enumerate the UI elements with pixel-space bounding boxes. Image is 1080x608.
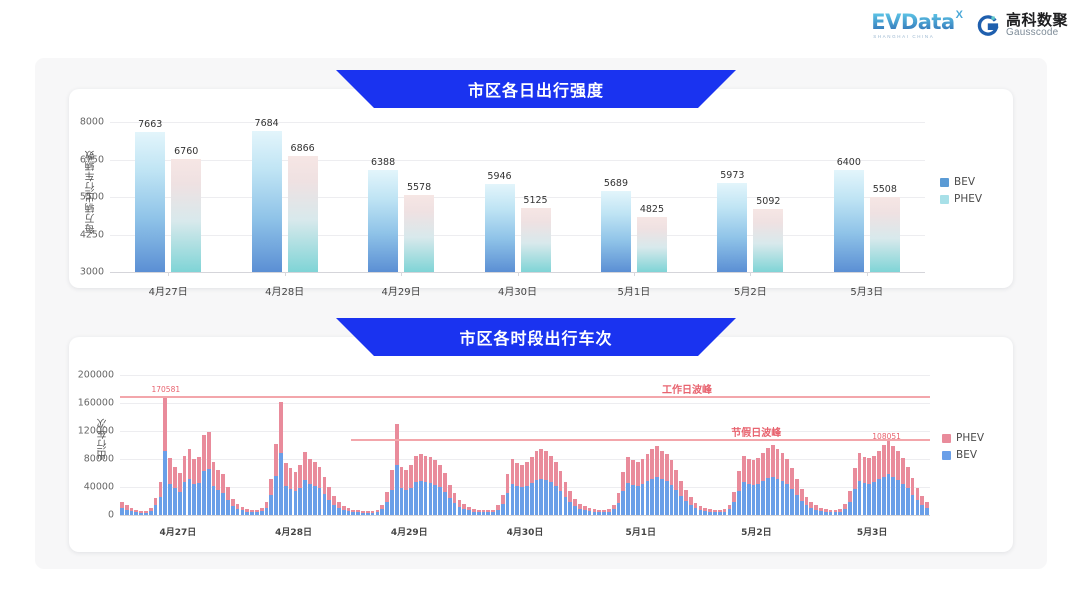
chart2-bar-segment-bev: [626, 483, 630, 515]
chart2-bar-segment-phev: [168, 458, 172, 484]
chart2-stacked-bar: [829, 510, 833, 515]
chart2-bar-segment-phev: [159, 482, 163, 497]
chart1-bar-bev: [135, 132, 165, 272]
chart2-stacked-bar: [511, 459, 515, 515]
chart1-x-tick-label: 4月30日: [498, 283, 537, 298]
chart2-x-axis: [120, 515, 930, 516]
chart2-stacked-bar: [472, 509, 476, 515]
chart2-stacked-bar: [703, 508, 707, 515]
chart2-bar-segment-phev: [800, 489, 804, 501]
chart2-stacked-bar: [448, 485, 452, 515]
chart2-bar-segment-bev: [535, 480, 539, 515]
chart2-bar-segment-bev: [785, 484, 789, 515]
chart2-bar-segment-phev: [530, 457, 534, 483]
chart2-bar-segment-bev: [781, 481, 785, 515]
chart2-bar-segment-bev: [183, 482, 187, 515]
chart2-stacked-bar: [515, 463, 519, 515]
chart2-bar-segment-bev: [814, 510, 818, 515]
chart2-bar-segment-phev: [848, 491, 852, 502]
chart2-stacked-bar: [433, 460, 437, 515]
chart1-bar-value-label: 5973: [720, 170, 744, 181]
chart2-stacked-bar: [154, 498, 158, 516]
chart2-stacked-bar: [824, 509, 828, 515]
chart2-bar-segment-phev: [453, 493, 457, 503]
chart2-stacked-bar: [163, 396, 167, 515]
chart2-bar-segment-bev: [670, 485, 674, 515]
logo-group: EVData X SHANGHAI CHINA 高科数聚 Gausscode: [871, 12, 1068, 40]
chart1-y-tick: 8000: [66, 117, 104, 128]
chart2-bar-segment-phev: [621, 472, 625, 492]
chart2-bar-segment-bev: [756, 484, 760, 516]
chart2-stacked-bar: [520, 465, 524, 515]
chart2-stacked-bar: [689, 497, 693, 515]
chart2-bar-segment-bev: [867, 484, 871, 516]
chart2-bar-segment-bev: [159, 497, 163, 515]
chart2-bar-segment-phev: [906, 467, 910, 489]
chart2-stacked-bar: [848, 491, 852, 515]
chart2-stacked-bar: [207, 432, 211, 515]
chart2-bar-segment-phev: [202, 435, 206, 471]
chart2-bar-segment-bev: [655, 477, 659, 515]
chart2-bar-segment-phev: [216, 470, 220, 490]
chart2-y-tick: 160000: [68, 398, 114, 409]
chart2-bar-segment-phev: [520, 465, 524, 487]
chart1-bar-phev: [171, 159, 201, 272]
chart2-bar-segment-bev: [221, 493, 225, 515]
chart2-bar-segment-bev: [438, 487, 442, 515]
chart2-bar-segment-phev: [689, 497, 693, 505]
chart2-bar-segment-bev: [414, 482, 418, 515]
chart2-bar-segment-phev: [390, 470, 394, 490]
chart1-bar-value-label: 6400: [837, 157, 861, 168]
chart2-stacked-bar: [506, 474, 510, 515]
chart2-bar-segment-bev: [617, 503, 621, 515]
chart2-bar-segment-phev: [429, 457, 433, 483]
chart1-legend-item[interactable]: BEV: [940, 176, 982, 188]
chart2-bar-segment-bev: [646, 481, 650, 515]
chart2-legend-item[interactable]: PHEV: [942, 432, 984, 444]
chart1-bar-value-label: 6760: [174, 146, 198, 157]
chart2-bar-segment-bev: [887, 474, 891, 515]
chart2-bar-segment-bev: [467, 510, 471, 515]
chart2-bar-segment-bev: [573, 506, 577, 515]
chart2-stacked-bar: [274, 444, 278, 515]
chart2-stacked-bar: [858, 453, 862, 515]
chart2-bar-segment-bev: [809, 508, 813, 515]
chart2-bar-segment-bev: [568, 502, 572, 515]
chart2-bar-segment-bev: [462, 509, 466, 515]
chart2-bar-segment-phev: [433, 460, 437, 485]
chart2-stacked-bar: [376, 510, 380, 515]
chart2-bar-segment-bev: [260, 511, 264, 515]
chart2-bar-segment-bev: [139, 513, 143, 515]
chart2-stacked-bar: [332, 496, 336, 515]
chart2-stacked-bar: [626, 457, 630, 515]
chart2-stacked-bar: [284, 463, 288, 515]
chart2-reference-line: [120, 396, 930, 398]
chart2-bar-segment-phev: [766, 448, 770, 478]
chart2-stacked-bar: [728, 505, 732, 515]
chart1-bar-value-label: 5125: [523, 195, 547, 206]
chart2-bar-segment-bev: [409, 488, 413, 515]
chart2-stacked-bar: [597, 510, 601, 515]
evdata-logo-superscript: X: [956, 10, 963, 21]
chart2-x-tick-label: 4月29日: [391, 525, 428, 538]
chart2-stacked-bar: [149, 508, 153, 515]
chart2-bar-segment-bev: [125, 510, 129, 515]
chart2-bar-segment-bev: [419, 481, 423, 515]
chart2-bar-segment-bev: [491, 512, 495, 515]
chart2-bar-segment-bev: [578, 509, 582, 515]
chart2-bar-segment-phev: [631, 460, 635, 485]
chart2-bar-segment-bev: [703, 511, 707, 515]
chart2-stacked-bar: [120, 502, 124, 515]
chart2-bar-segment-bev: [515, 486, 519, 515]
chart2-bar-segment-phev: [655, 446, 659, 477]
chart1-bar-value-label: 6388: [371, 157, 395, 168]
chart2-bar-segment-bev: [511, 484, 515, 515]
chart2-stacked-bar: [443, 473, 447, 515]
chart2-stacked-bar: [805, 497, 809, 515]
chart1-bar-value-label: 7663: [138, 119, 162, 130]
chart2-bar-segment-phev: [901, 458, 905, 484]
chart1-bar-value-label: 5092: [756, 196, 780, 207]
chart1-x-tickmark: [285, 272, 286, 276]
chart2-bar-segment-bev: [790, 489, 794, 515]
chart2-bar-segment-bev: [920, 505, 924, 516]
chart2-bar-segment-phev: [867, 458, 871, 483]
chart2-stacked-bar: [559, 471, 563, 515]
chart2-stacked-bar: [882, 445, 886, 515]
chart1-bar-bev: [368, 170, 398, 272]
chart2-stacked-bar: [920, 496, 924, 515]
chart2-bar-segment-bev: [289, 489, 293, 515]
chart2-stacked-bar: [467, 507, 471, 515]
chart2-bar-segment-phev: [511, 459, 515, 484]
chart2-bar-segment-bev: [863, 483, 867, 515]
chart2-bar-segment-bev: [858, 481, 862, 515]
chart2-bar-segment-bev: [197, 483, 201, 515]
chart2-bar-segment-bev: [800, 501, 804, 515]
chart2-stacked-bar: [588, 508, 592, 515]
chart2-stacked-bar: [766, 448, 770, 515]
chart2-bar-segment-bev: [356, 512, 360, 515]
chart2-stacked-bar: [732, 492, 736, 515]
chart2-bar-segment-bev: [385, 502, 389, 515]
chart2-stacked-bar: [144, 511, 148, 515]
chart2-stacked-bar: [221, 474, 225, 515]
chart2-bar-segment-phev: [737, 471, 741, 491]
chart2-stacked-bar: [694, 503, 698, 515]
chart2-stacked-bar: [631, 460, 635, 515]
chart2-stacked-bar: [260, 508, 264, 515]
chart2-stacked-bar: [684, 490, 688, 515]
chart2-stacked-bar: [458, 500, 462, 515]
chart2-bar-segment-phev: [269, 479, 273, 495]
chart2-bar-segment-phev: [877, 451, 881, 480]
chart2-bar-segment-bev: [506, 493, 510, 515]
chart2-bar-segment-phev: [896, 451, 900, 480]
chart2-gridline: [120, 431, 930, 432]
chart2-bar-segment-phev: [573, 499, 577, 506]
chart2-bar-segment-bev: [274, 476, 278, 515]
chart2-bar-segment-bev: [588, 511, 592, 515]
chart2-stacked-bar: [679, 481, 683, 515]
chart2-bar-segment-bev: [366, 513, 370, 515]
chart2-bar-segment-phev: [781, 453, 785, 481]
chart2-stacked-bar: [361, 511, 365, 515]
chart2-stacked-bar: [896, 451, 900, 515]
chart2-bar-segment-phev: [660, 451, 664, 480]
gausscode-logo-icon: 高科数聚 Gausscode: [977, 13, 1068, 39]
chart2-stacked-bar: [535, 451, 539, 515]
chart2-bar-segment-bev: [520, 487, 524, 515]
chart2-bar-segment-bev: [327, 500, 331, 515]
chart2-bar-segment-bev: [713, 512, 717, 515]
chart1-bar-bev: [834, 170, 864, 272]
gausscode-logo-cn: 高科数聚: [1006, 13, 1068, 29]
chart2-bar-segment-bev: [294, 491, 298, 515]
chart1-legend-item[interactable]: PHEV: [940, 193, 982, 205]
chart2-stacked-bar: [612, 505, 616, 515]
chart2-stacked-bar: [351, 510, 355, 515]
chart2-stacked-bar: [544, 451, 548, 515]
chart2-stacked-bar: [617, 493, 621, 515]
chart2-bar-segment-phev: [742, 456, 746, 483]
chart2-legend-swatch-phev: [942, 434, 951, 443]
chart2-bar-segment-bev: [824, 512, 828, 515]
chart2-stacked-bar: [294, 472, 298, 515]
chart2-bar-segment-bev: [636, 486, 640, 515]
chart2-bar-segment-bev: [911, 495, 915, 515]
chart2-stacked-bar: [400, 467, 404, 515]
chart2-y-tick: 0: [68, 510, 114, 521]
chart2-x-tick-label: 5月3日: [857, 525, 888, 538]
chart1-bar-value-label: 6866: [291, 143, 315, 154]
chart2-stacked-bar: [269, 479, 273, 515]
chart2-bar-segment-phev: [163, 396, 167, 452]
chart2-bar-segment-bev: [679, 496, 683, 515]
chart2-stacked-bar: [308, 459, 312, 515]
chart2-bar-segment-bev: [660, 479, 664, 515]
chart2-bar-segment-bev: [380, 509, 384, 515]
chart2-stacked-bar: [863, 457, 867, 515]
chart1-bar-bev: [252, 131, 282, 272]
chart2-bar-segment-bev: [303, 480, 307, 515]
chart2-bar-segment-phev: [853, 468, 857, 489]
chart2-bar-segment-bev: [482, 512, 486, 515]
chart2-bar-segment-phev: [303, 452, 307, 480]
chart2-bar-segment-bev: [906, 488, 910, 515]
chart2-bar-segment-bev: [477, 512, 481, 515]
chart2-bar-segment-phev: [756, 458, 760, 483]
chart1-y-tick: 3000: [66, 267, 104, 278]
chart2-stacked-bar: [303, 452, 307, 515]
chart2-bar-segment-bev: [448, 498, 452, 515]
chart2-bar-segment-phev: [207, 432, 211, 469]
chart2-stacked-bar: [188, 449, 192, 515]
chart2-bar-segment-bev: [641, 484, 645, 515]
chart2-bar-segment-bev: [458, 507, 462, 515]
chart1-bar-value-label: 4825: [640, 204, 664, 215]
chart2-bar-segment-phev: [226, 487, 230, 500]
chart2-bar-segment-bev: [853, 489, 857, 515]
chart2-stacked-bar: [482, 510, 486, 515]
chart2-bar-segment-phev: [289, 468, 293, 489]
chart2-bar-segment-phev: [911, 478, 915, 495]
chart2-stacked-bar: [925, 502, 929, 515]
chart2-bar-segment-phev: [501, 495, 505, 504]
chart2-bar-segment-phev: [679, 481, 683, 496]
chart2-bar-segment-bev: [877, 479, 881, 515]
chart-daily-travel-intensity: 30004250550067508000766367604月27日7684686…: [110, 122, 925, 272]
chart2-bar-segment-bev: [400, 488, 404, 515]
chart2-stacked-bar: [409, 465, 413, 515]
chart2-legend-swatch-bev: [942, 451, 951, 460]
chart2-bar-segment-phev: [626, 457, 630, 483]
chart2-stacked-bar: [453, 493, 457, 515]
chart2-bar-segment-bev: [896, 480, 900, 515]
chart2-stacked-bar: [202, 435, 206, 515]
chart2-bar-segment-phev: [617, 493, 621, 503]
chart2-bar-segment-phev: [318, 467, 322, 489]
chart2-stacked-bar: [564, 482, 568, 515]
chart2-bar-segment-bev: [819, 511, 823, 515]
chart2-bar-segment-bev: [597, 512, 601, 515]
chart2-bar-segment-phev: [385, 492, 389, 502]
chart2-stacked-bar: [607, 509, 611, 515]
chart2-stacked-bar: [298, 465, 302, 515]
chart2-stacked-bar: [756, 458, 760, 515]
chart2-stacked-bar: [785, 459, 789, 515]
gausscode-mark-icon: [977, 14, 1000, 37]
chart2-bar-segment-bev: [429, 483, 433, 515]
chart2-bar-segment-phev: [863, 457, 867, 483]
chart2-bar-segment-bev: [361, 513, 365, 515]
chart2-stacked-bar: [255, 510, 259, 515]
chart2-bar-segment-phev: [674, 470, 678, 490]
chart2-bar-segment-phev: [173, 467, 177, 489]
evdata-logo-subtitle: SHANGHAI CHINA: [871, 35, 934, 40]
chart2-stacked-bar: [265, 502, 269, 515]
chart2-stacked-bar: [496, 505, 500, 515]
chart2-bar-segment-bev: [188, 479, 192, 515]
chart2-stacked-bar: [539, 449, 543, 515]
chart2-bar-segment-bev: [323, 494, 327, 515]
chart2-stacked-bar: [554, 462, 558, 515]
chart2-stacked-bar: [371, 511, 375, 515]
chart2-bar-segment-bev: [829, 512, 833, 515]
chart2-stacked-bar: [366, 511, 370, 515]
chart1-legend-swatch-phev: [940, 195, 949, 204]
chart2-bar-segment-phev: [197, 457, 201, 483]
chart2-stacked-bar: [674, 470, 678, 516]
chart2-stacked-bar: [713, 510, 717, 515]
chart2-stacked-bar: [395, 424, 399, 515]
chart2-bar-segment-bev: [163, 451, 167, 515]
chart2-y-axis-label: 出行车次: [96, 418, 111, 460]
chart2-bar-segment-bev: [433, 485, 437, 515]
chart2-bar-segment-phev: [747, 459, 751, 484]
chart2-stacked-bar: [790, 468, 794, 515]
chart2-bar-segment-bev: [351, 512, 355, 515]
chart2-bar-segment-bev: [284, 486, 288, 515]
chart2-stacked-bar: [814, 505, 818, 515]
chart2-reference-label: 工作日波峰: [662, 381, 712, 396]
chart2-reference-line: [351, 439, 930, 441]
chart2-bar-segment-bev: [621, 491, 625, 515]
chart2-bar-segment-bev: [342, 510, 346, 515]
chart2-bar-segment-phev: [891, 446, 895, 477]
chart1-x-tick-label: 5月2日: [734, 283, 767, 298]
chart1-x-tickmark: [634, 272, 635, 276]
chart2-bar-segment-bev: [395, 465, 399, 515]
chart2-stacked-bar: [318, 467, 322, 515]
chart2-stacked-bar: [819, 508, 823, 515]
chart2-stacked-bar: [650, 449, 654, 515]
chart2-bar-segment-bev: [549, 482, 553, 515]
chart2-stacked-bar: [718, 510, 722, 515]
chart2-bar-segment-phev: [327, 487, 331, 500]
chart2-bar-segment-bev: [718, 512, 722, 515]
chart1-gridline: [110, 235, 925, 236]
chart2-legend: PHEVBEV: [942, 432, 984, 466]
chart2-bar-segment-bev: [612, 509, 616, 515]
chart2-bar-segment-bev: [583, 510, 587, 515]
chart2-bar-segment-phev: [554, 462, 558, 486]
chart1-x-tick-label: 5月3日: [850, 283, 883, 298]
chart2-bar-segment-phev: [404, 470, 408, 490]
chart1-bar-phev: [404, 195, 434, 272]
chart2-bar-segment-bev: [752, 485, 756, 515]
chart2-bar-segment-bev: [130, 511, 134, 515]
chart2-bar-segment-phev: [650, 449, 654, 478]
chart2-stacked-bar: [356, 510, 360, 515]
chart2-bar-segment-bev: [564, 497, 568, 515]
chart2-stacked-bar: [241, 507, 245, 515]
chart2-bar-segment-bev: [650, 479, 654, 515]
chart2-bar-segment-bev: [376, 512, 380, 515]
chart2-bar-segment-bev: [925, 508, 929, 515]
chart2-stacked-bar: [414, 456, 418, 516]
chart1-bar-value-label: 5578: [407, 182, 431, 193]
chart1-x-tick-label: 4月29日: [382, 283, 421, 298]
chart2-stacked-bar: [139, 511, 143, 515]
chart2-stacked-bar: [916, 488, 920, 515]
chart2-bar-segment-bev: [496, 510, 500, 515]
chart2-bar-segment-bev: [216, 490, 220, 515]
chart2-stacked-bar: [800, 489, 804, 515]
chart2-bar-segment-bev: [192, 484, 196, 515]
chart2-bar-segment-bev: [742, 482, 746, 515]
chart1-bar-value-label: 5689: [604, 178, 628, 189]
chart2-bar-segment-phev: [805, 497, 809, 505]
chart2-stacked-bar: [723, 509, 727, 515]
chart2-stacked-bar: [279, 402, 283, 515]
chart2-bar-segment-phev: [458, 500, 462, 507]
chart2-bar-segment-bev: [255, 512, 259, 515]
chart2-bar-segment-phev: [178, 473, 182, 492]
chart2-bar-segment-bev: [332, 505, 336, 516]
chart2-stacked-bar: [385, 492, 389, 515]
chart2-bar-segment-bev: [602, 512, 606, 515]
chart2-stacked-bar: [877, 451, 881, 515]
chart2-legend-item[interactable]: BEV: [942, 449, 984, 461]
chart2-bar-segment-phev: [920, 496, 924, 504]
chart1-x-tick-label: 5月1日: [618, 283, 651, 298]
chart1-x-tick-label: 4月27日: [149, 283, 188, 298]
chart2-bar-segment-phev: [568, 491, 572, 502]
